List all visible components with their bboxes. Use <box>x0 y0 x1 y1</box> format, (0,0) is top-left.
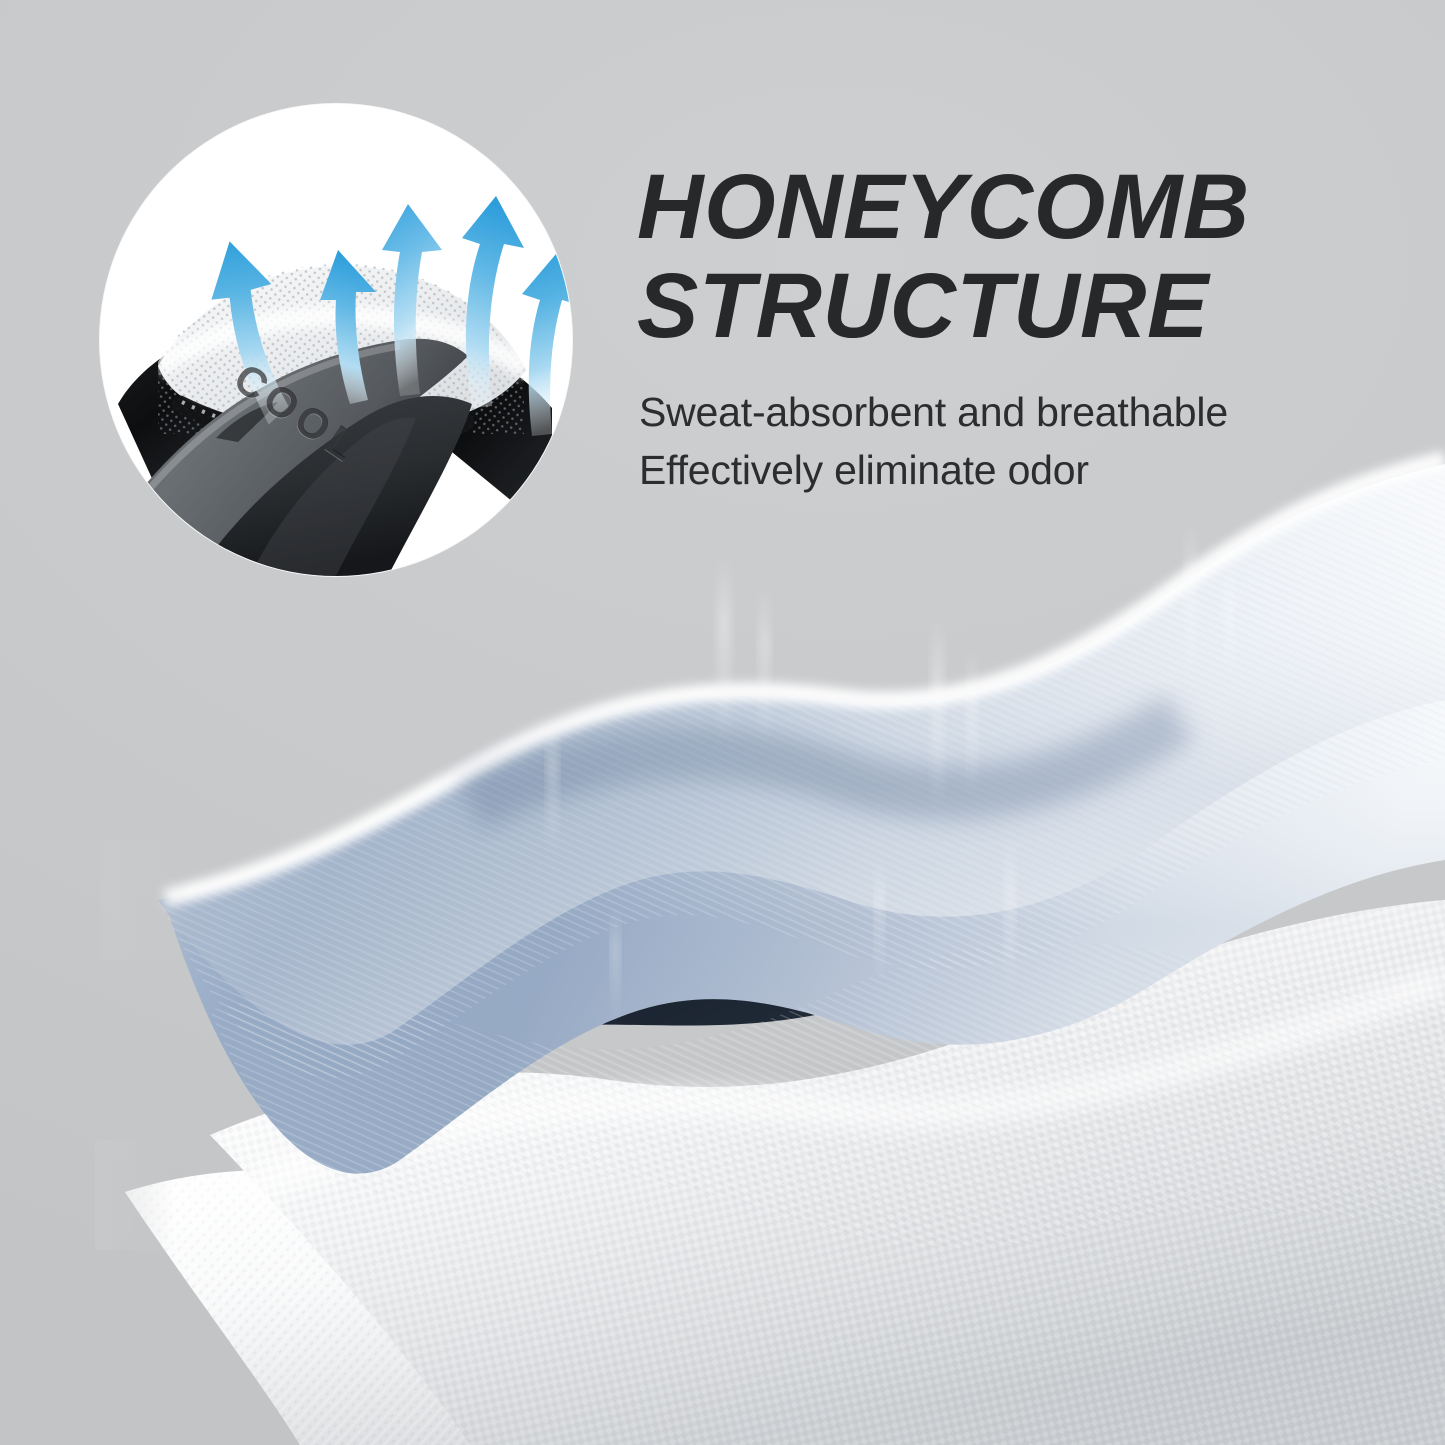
subtitle-line-2: Effectively eliminate odor <box>639 441 1397 499</box>
subtitle-line-1: Sweat-absorbent and breathable <box>639 383 1397 441</box>
feature-text-block: HONEYCOMB STRUCTURE Sweat-absorbent and … <box>637 158 1397 499</box>
product-feature-graphic: COOL HONEYCOMB STRUCTURE Sweat-absorbent… <box>0 0 1445 1445</box>
headline-line-1: HONEYCOMB <box>637 156 1250 258</box>
headline-line-2: STRUCTURE <box>637 257 1397 356</box>
page-title: HONEYCOMB STRUCTURE <box>637 158 1397 357</box>
feature-subtitle: Sweat-absorbent and breathable Effective… <box>639 383 1397 499</box>
product-detail-inset: COOL <box>100 104 572 576</box>
inset-product-photo <box>100 104 572 576</box>
